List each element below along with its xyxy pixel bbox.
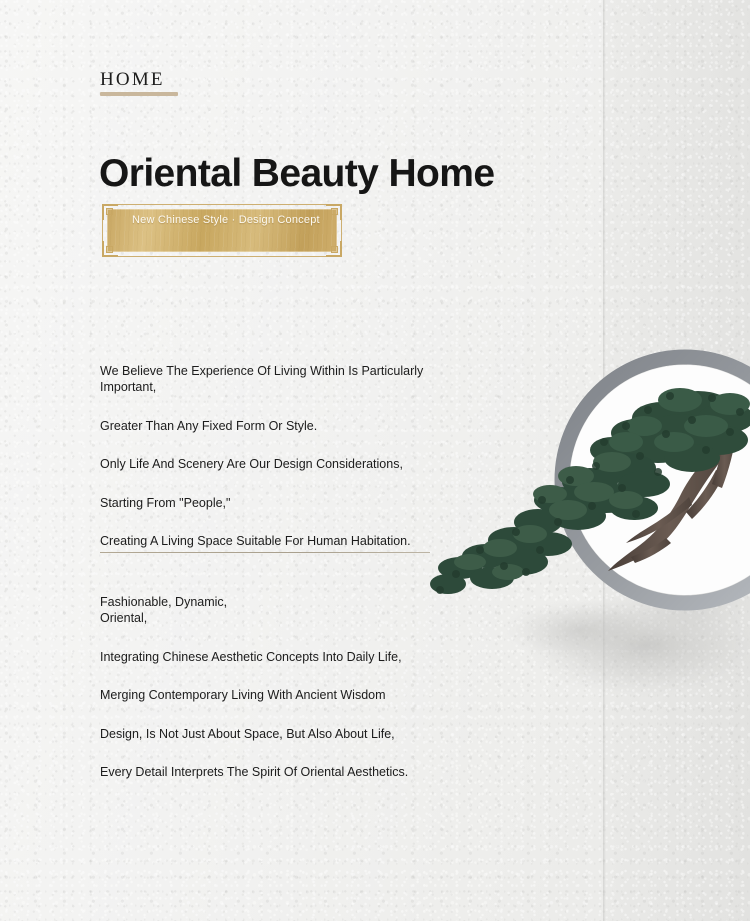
aesthetics-text-block: Fashionable, Dynamic, Oriental, Integrat… <box>100 581 440 781</box>
section-divider <box>100 552 430 553</box>
ornament-corner-bottom-right <box>326 241 342 257</box>
philosophy-line: Creating A Living Space Suitable For Hum… <box>100 533 440 550</box>
moon-gate-pine-illustration <box>430 300 750 720</box>
breadcrumb-underline <box>100 92 178 96</box>
aesthetics-line: Fashionable, Dynamic, Oriental, <box>100 594 440 627</box>
ornament-corner-bottom-left <box>102 241 118 257</box>
philosophy-line: Greater Than Any Fixed Form Or Style. <box>100 418 440 435</box>
ornament-corner-top-left <box>102 204 118 220</box>
philosophy-line: Only Life And Scenery Are Our Design Con… <box>100 456 440 473</box>
design-concept-banner: New Chinese Style · Design Concept <box>102 204 342 257</box>
ornament-corner-top-right <box>326 204 342 220</box>
aesthetics-line: Design, Is Not Just About Space, But Als… <box>100 726 440 743</box>
banner-label: New Chinese Style · Design Concept <box>132 213 328 228</box>
aesthetics-line: Every Detail Interprets The Spirit Of Or… <box>100 764 440 781</box>
breadcrumb[interactable]: HOME <box>100 70 178 96</box>
breadcrumb-label: HOME <box>100 70 178 89</box>
philosophy-line: Starting From "People," <box>100 495 440 512</box>
philosophy-text-block: We Believe The Experience Of Living With… <box>100 350 440 550</box>
philosophy-line: We Believe The Experience Of Living With… <box>100 363 440 396</box>
aesthetics-line: Integrating Chinese Aesthetic Concepts I… <box>100 649 440 666</box>
page-title: Oriental Beauty Home <box>99 154 494 195</box>
aesthetics-line: Merging Contemporary Living With Ancient… <box>100 687 440 704</box>
